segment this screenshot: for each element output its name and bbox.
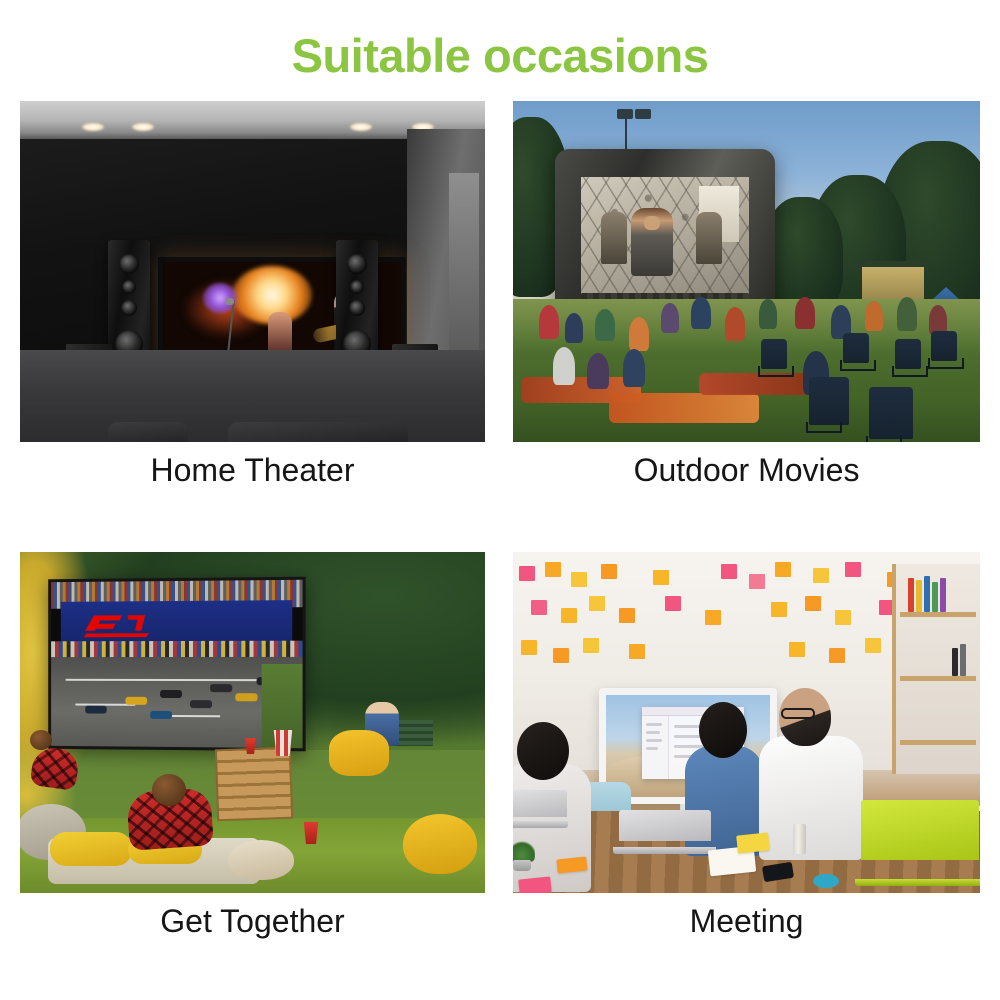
camping-chair	[895, 339, 921, 369]
spectator	[865, 301, 883, 331]
caption-home-theater: Home Theater	[20, 445, 485, 495]
laptop-left	[513, 790, 567, 828]
spectator	[795, 297, 815, 329]
person-body	[513, 764, 591, 892]
sticky-note	[545, 562, 561, 577]
wooden-pallet-divider	[215, 747, 293, 822]
laptop-base[interactable]	[513, 821, 568, 828]
book	[932, 582, 938, 612]
occasion-card-outdoor-movies[interactable]: Outdoor Movies	[513, 101, 980, 495]
sidebar-row	[646, 723, 662, 726]
sticky-note	[865, 638, 881, 653]
person-head	[517, 722, 569, 780]
speaker-driver	[349, 300, 365, 316]
laptop-base[interactable]	[613, 847, 716, 854]
guest-head	[152, 774, 186, 806]
occasion-card-home-theater[interactable]: Home Theater	[20, 101, 485, 495]
race-car	[85, 705, 107, 713]
f1-logo-icon	[81, 610, 158, 642]
yellow-pillow	[50, 832, 132, 866]
sticky-note	[845, 562, 861, 577]
occasion-card-meeting[interactable]: Meeting	[513, 552, 980, 945]
sticky-note	[775, 562, 791, 577]
sticky-note	[583, 638, 599, 653]
occasion-card-get-together[interactable]: Get Together	[20, 552, 485, 945]
laptop-center	[619, 810, 711, 854]
photo-home-theater	[20, 101, 485, 442]
person-body	[759, 736, 863, 860]
speaker-driver	[347, 254, 367, 274]
camping-chair	[809, 377, 849, 425]
floodlight-icon	[617, 109, 633, 119]
shelf-board	[900, 740, 976, 745]
colleague-right	[759, 688, 863, 856]
microphone-icon	[225, 298, 234, 305]
sticky-note	[813, 568, 829, 583]
outdoor-projection-screen	[48, 577, 305, 752]
sticky-note	[705, 610, 721, 625]
bookshelf	[892, 564, 980, 774]
shelf-board	[900, 612, 976, 617]
sticky-note	[589, 596, 605, 611]
race-car	[190, 700, 212, 708]
movie-character-left	[601, 212, 627, 264]
laptop-lid	[513, 790, 567, 817]
camping-chair	[843, 333, 869, 363]
track-marking	[66, 679, 282, 681]
sticky-note	[665, 596, 681, 611]
race-car	[125, 697, 147, 705]
race-car	[210, 684, 232, 692]
movie-character-right	[696, 212, 722, 264]
sidebar-row	[646, 731, 660, 734]
picnic-mat	[228, 840, 294, 880]
shelf-board	[900, 676, 976, 681]
sticky-note	[835, 610, 851, 625]
sticky-note	[519, 566, 535, 581]
laptop-green	[861, 800, 979, 886]
sticky-note	[601, 564, 617, 579]
tape-dispenser	[813, 874, 839, 888]
occasions-page: Suitable occasions	[0, 0, 1000, 1000]
race-car	[236, 693, 258, 701]
window	[449, 173, 479, 353]
sticky-note	[721, 564, 737, 579]
caption-get-together: Get Together	[20, 896, 485, 946]
spectator	[725, 307, 745, 341]
spectator	[897, 297, 917, 331]
speaker-driver	[119, 254, 139, 274]
caption-outdoor-movies: Outdoor Movies	[513, 445, 980, 495]
book	[908, 578, 914, 612]
ceiling-light-icon	[350, 123, 372, 131]
photo-outdoor-movies	[513, 101, 980, 442]
spectator	[759, 299, 777, 329]
sticky-note	[521, 640, 537, 655]
sidebar-row	[646, 747, 658, 750]
book	[952, 648, 958, 676]
screen-image-movie	[581, 177, 749, 295]
spectator	[539, 305, 559, 339]
laptop-base[interactable]	[855, 879, 980, 886]
page-title: Suitable occasions	[0, 26, 1000, 86]
spectator	[661, 303, 679, 333]
backup-singer	[268, 312, 292, 352]
photo-get-together	[20, 552, 485, 893]
book	[940, 578, 946, 612]
sticky-note	[518, 876, 551, 893]
sticky-note	[561, 608, 577, 623]
speaker-driver	[350, 280, 364, 294]
sticky-note	[553, 648, 569, 663]
sticky-note	[829, 648, 845, 663]
spectator	[595, 309, 615, 341]
movie-character-center	[631, 208, 673, 276]
speaker-driver	[121, 300, 137, 316]
camping-chair	[761, 339, 787, 369]
race-car	[150, 711, 172, 719]
sticky-note	[789, 642, 805, 657]
person-head	[699, 702, 747, 758]
book	[960, 644, 966, 676]
spectator	[623, 349, 645, 387]
sticky-note	[805, 596, 821, 611]
camping-chair	[931, 331, 957, 361]
sticky-note	[571, 572, 587, 587]
book	[916, 580, 922, 612]
spectator	[629, 317, 649, 351]
spectator	[553, 347, 575, 385]
yellow-bean-bag	[329, 730, 389, 776]
sticky-note	[736, 832, 770, 853]
sticky-note	[653, 570, 669, 585]
guest-head	[30, 730, 52, 750]
f1-banner	[61, 600, 292, 644]
sofa-cushion	[108, 422, 188, 442]
track-marking	[165, 715, 221, 717]
race-car	[160, 690, 182, 698]
ceiling-light-icon	[82, 123, 104, 131]
drink-can	[793, 824, 806, 854]
camping-chair	[869, 387, 913, 439]
sidebar-row	[646, 739, 662, 742]
floodlight-icon	[635, 109, 651, 119]
laptop-lid	[619, 810, 711, 841]
photo-meeting	[513, 552, 980, 893]
sticky-note	[749, 574, 765, 589]
potted-plant	[513, 840, 535, 862]
caption-meeting: Meeting	[513, 896, 980, 946]
spectator	[565, 313, 583, 343]
sticky-note	[629, 644, 645, 659]
spectator	[691, 297, 711, 329]
book	[924, 576, 930, 612]
sticky-note	[771, 602, 787, 617]
sticky-note	[619, 608, 635, 623]
sticky-note	[531, 600, 547, 615]
glasses-icon	[781, 708, 815, 719]
ceiling-light-icon	[132, 123, 154, 131]
laptop-lid	[861, 800, 979, 860]
sofa-cushion	[228, 422, 408, 442]
speaker-driver	[122, 280, 136, 294]
spectator	[587, 353, 609, 389]
bean-bag-yellow	[403, 814, 477, 874]
occasions-grid: Home Theater	[20, 101, 980, 945]
picnic-blanket	[609, 393, 759, 423]
